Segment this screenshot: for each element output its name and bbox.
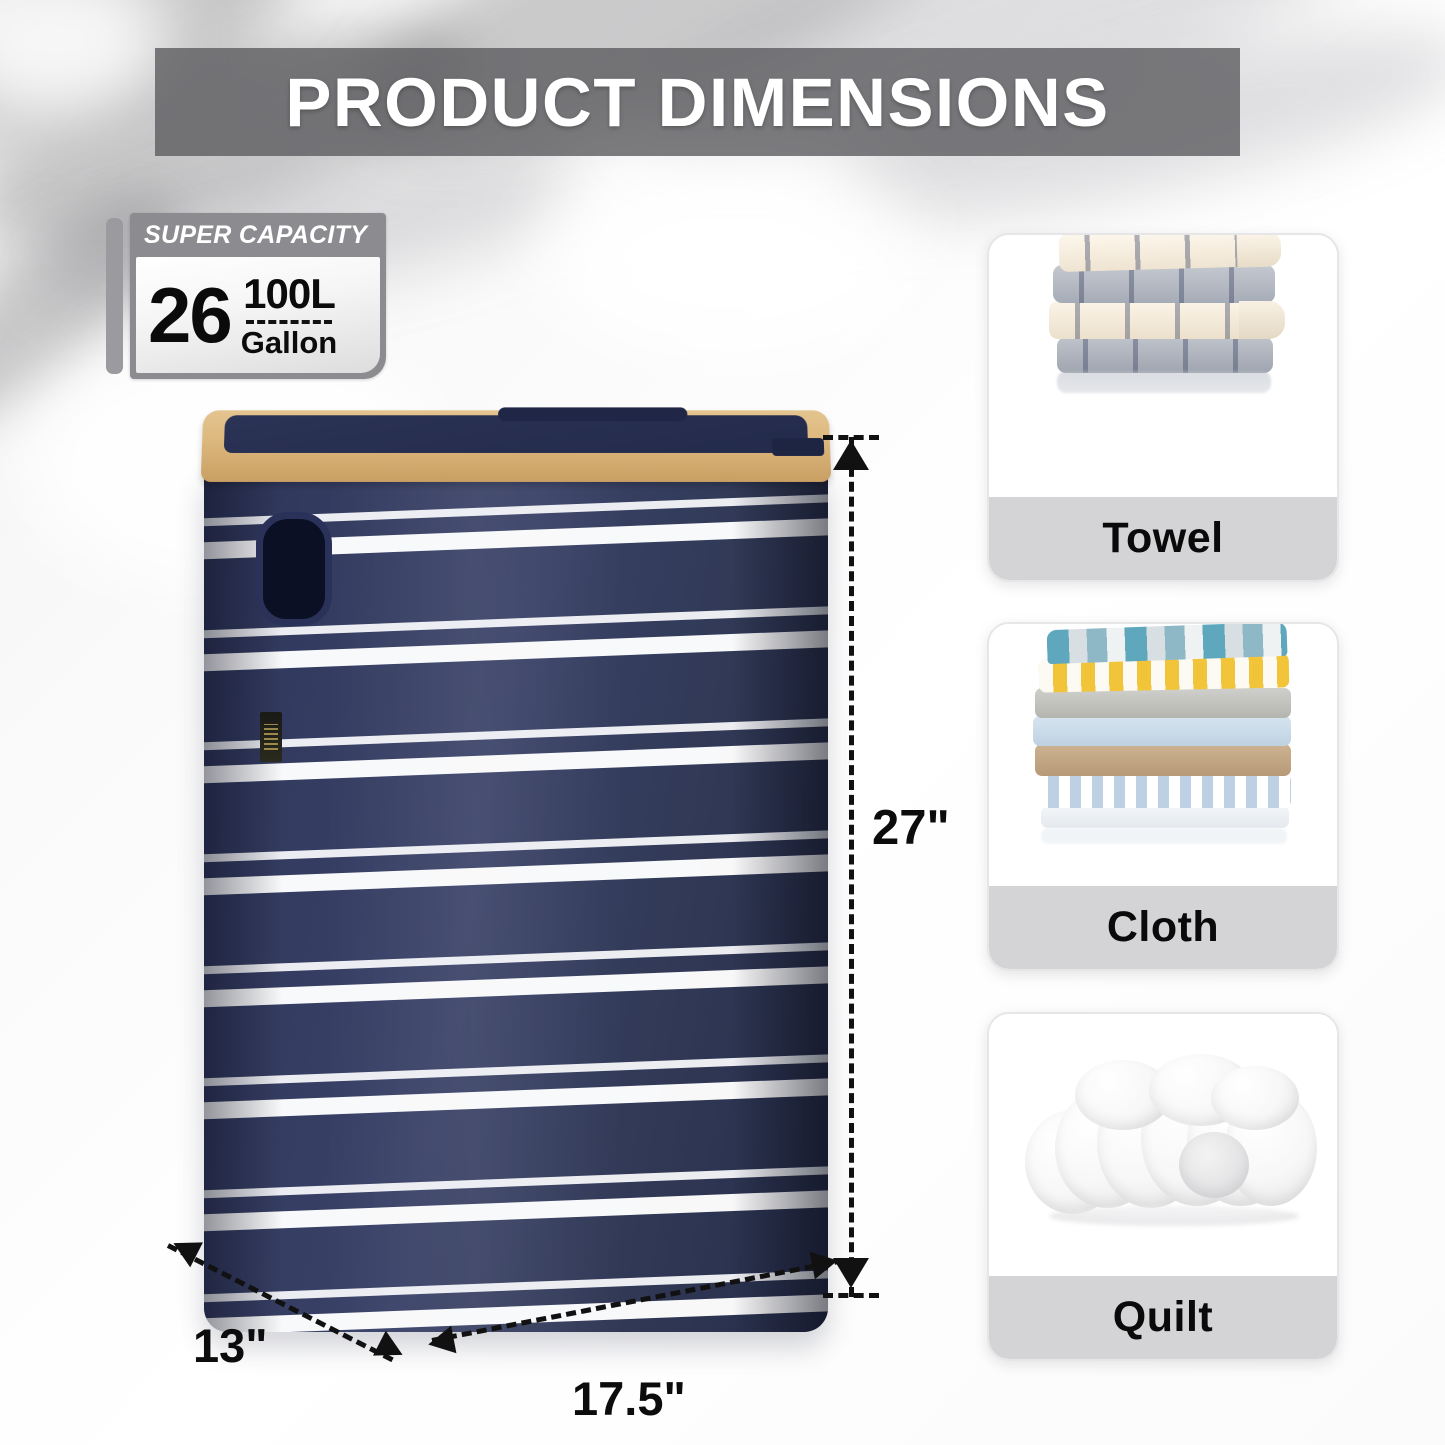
hamper-handle-cutout [256, 512, 332, 626]
lid-hinge-tab [498, 407, 687, 421]
lid-pull-tab [772, 438, 825, 456]
hamper-body [204, 470, 828, 1332]
capacity-gallon-number: 26 [148, 282, 231, 348]
capacity-badge-tab [106, 218, 123, 374]
width-dim-label: 17.5" [572, 1371, 686, 1426]
brand-label-tag [260, 712, 282, 762]
use-case-label: Cloth [1107, 903, 1219, 952]
infographic-canvas: PRODUCT DIMENSIONS SUPER CAPACITY 26 100… [0, 0, 1445, 1445]
hamper-bamboo-lid [201, 410, 832, 482]
use-case-card-towel[interactable]: Towel [987, 233, 1339, 582]
height-dim-label: 27" [872, 800, 950, 856]
width-dim-arrow-end [810, 1247, 841, 1279]
use-case-label: Towel [1102, 514, 1223, 563]
capacity-heading-text: SUPER CAPACITY [144, 221, 367, 250]
depth-dim-label: 13" [193, 1318, 268, 1373]
height-dim-line [849, 437, 854, 1297]
capacity-unit-group: 100L Gallon [241, 273, 337, 358]
page-title: PRODUCT DIMENSIONS [285, 63, 1109, 142]
capacity-badge: SUPER CAPACITY 26 100L Gallon [106, 213, 386, 379]
capacity-badge-body: 26 100L Gallon [136, 257, 380, 373]
capacity-liters: 100L [243, 273, 335, 315]
capacity-badge-heading: SUPER CAPACITY [130, 213, 386, 258]
page-title-banner: PRODUCT DIMENSIONS [155, 48, 1240, 156]
capacity-unit-label: Gallon [241, 327, 337, 358]
use-case-card-quilt[interactable]: Quilt [987, 1012, 1339, 1361]
capacity-divider [246, 320, 332, 324]
hamper-right-shading [732, 470, 828, 1332]
folded-towels-icon [989, 235, 1337, 497]
use-case-label: Quilt [1113, 1293, 1213, 1342]
folded-clothes-icon [989, 624, 1337, 886]
background-highlight-2 [540, 150, 920, 360]
height-dim-bottom-tick [823, 1293, 879, 1298]
product-hamper [196, 410, 836, 1335]
use-case-label-wrap: Quilt [989, 1276, 1337, 1359]
use-case-card-cloth[interactable]: Cloth [987, 622, 1339, 971]
use-case-label-wrap: Towel [989, 497, 1337, 580]
use-case-label-wrap: Cloth [989, 886, 1337, 969]
capacity-badge-card: SUPER CAPACITY 26 100L Gallon [130, 213, 386, 379]
rolled-quilt-icon [989, 1014, 1337, 1276]
width-dim-arrow-start [426, 1326, 457, 1358]
hamper-sheen [324, 470, 624, 1332]
